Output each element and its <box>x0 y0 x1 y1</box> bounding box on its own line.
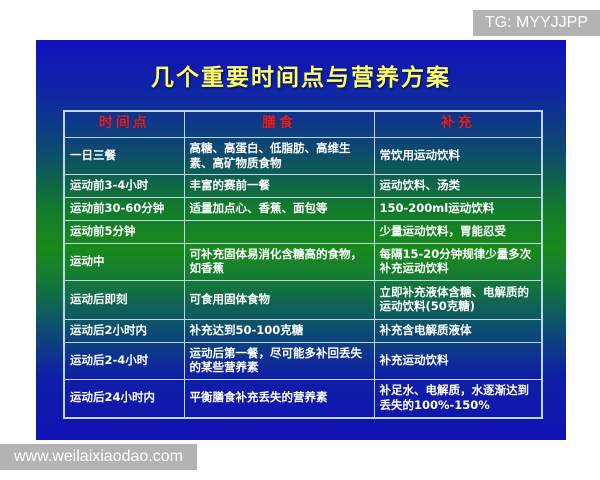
table-row: 运动前30-60分钟 适量加点心、香蕉、面包等 150-200ml运动饮料 <box>64 198 542 221</box>
table-row: 运动中 可补充固体易消化含糖高的食物，如香蕉 每隔15-20分钟规律少量多次补充… <box>64 243 542 280</box>
cell-time: 运动中 <box>64 243 184 280</box>
column-header-supplement: 补充 <box>374 111 542 137</box>
cell-diet: 可食用固体食物 <box>184 280 374 319</box>
column-header-time: 时间点 <box>64 111 184 137</box>
cell-diet: 平衡膳食补充丢失的营养素 <box>184 380 374 418</box>
column-header-diet: 膳食 <box>184 111 374 137</box>
presentation-slide: 几个重要时间点与营养方案 时间点 膳食 补充 一日三餐 高糖、高蛋白、低脂肪、高… <box>36 40 566 440</box>
cell-supplement: 运动饮料、汤类 <box>374 175 542 198</box>
page-title: 几个重要时间点与营养方案 <box>36 58 566 92</box>
cell-supplement: 150-200ml运动饮料 <box>374 198 542 221</box>
cell-time: 运动前5分钟 <box>64 220 184 243</box>
cell-supplement: 常饮用运动饮料 <box>374 137 542 174</box>
cell-supplement: 每隔15-20分钟规律少量多次补充运动饮料 <box>374 243 542 280</box>
cell-supplement: 补足水、电解质，水逐渐达到丢失的100%-150% <box>374 380 542 418</box>
cell-diet: 运动后第一餐，尽可能多补回丢失的某些营养素 <box>184 342 374 379</box>
cell-supplement: 补充含电解质液体 <box>374 319 542 342</box>
cell-supplement: 少量运动饮料，胃能忍受 <box>374 220 542 243</box>
table-row: 运动后24小时内 平衡膳食补充丢失的营养素 补足水、电解质，水逐渐达到丢失的10… <box>64 380 542 418</box>
cell-time: 运动后24小时内 <box>64 380 184 418</box>
cell-diet: 高糖、高蛋白、低脂肪、高维生素、高矿物质食物 <box>184 137 374 174</box>
cell-time: 运动后2小时内 <box>64 319 184 342</box>
cell-diet: 适量加点心、香蕉、面包等 <box>184 198 374 221</box>
table-row: 运动前3-4小时 丰富的赛前一餐 运动饮料、汤类 <box>64 175 542 198</box>
table-row: 一日三餐 高糖、高蛋白、低脂肪、高维生素、高矿物质食物 常饮用运动饮料 <box>64 137 542 174</box>
cell-time: 一日三餐 <box>64 137 184 174</box>
table-row: 运动后即刻 可食用固体食物 立即补充液体含糖、电解质的运动饮料(50克糖) <box>64 280 542 319</box>
nutrition-timing-table: 时间点 膳食 补充 一日三餐 高糖、高蛋白、低脂肪、高维生素、高矿物质食物 常饮… <box>63 110 543 419</box>
cell-diet: 补充达到50-100克糖 <box>184 319 374 342</box>
cell-diet: 可补充固体易消化含糖高的食物，如香蕉 <box>184 243 374 280</box>
telegram-banner: TG: MYYJJPP <box>473 10 600 36</box>
screenshot-canvas: 几个重要时间点与营养方案 时间点 膳食 补充 一日三餐 高糖、高蛋白、低脂肪、高… <box>0 0 600 480</box>
cell-time: 运动前30-60分钟 <box>64 198 184 221</box>
cell-supplement: 补充运动饮料 <box>374 342 542 379</box>
cell-supplement: 立即补充液体含糖、电解质的运动饮料(50克糖) <box>374 280 542 319</box>
cell-time: 运动后即刻 <box>64 280 184 319</box>
table-header-row: 时间点 膳食 补充 <box>64 111 542 137</box>
table-row: 运动后2小时内 补充达到50-100克糖 补充含电解质液体 <box>64 319 542 342</box>
table-row: 运动前5分钟 少量运动饮料，胃能忍受 <box>64 220 542 243</box>
cell-time: 运动后2-4小时 <box>64 342 184 379</box>
cell-diet <box>184 220 374 243</box>
site-url-banner: www.weilaixiaodao.com <box>0 444 197 470</box>
table-row: 运动后2-4小时 运动后第一餐，尽可能多补回丢失的某些营养素 补充运动饮料 <box>64 342 542 379</box>
cell-time: 运动前3-4小时 <box>64 175 184 198</box>
cell-diet: 丰富的赛前一餐 <box>184 175 374 198</box>
